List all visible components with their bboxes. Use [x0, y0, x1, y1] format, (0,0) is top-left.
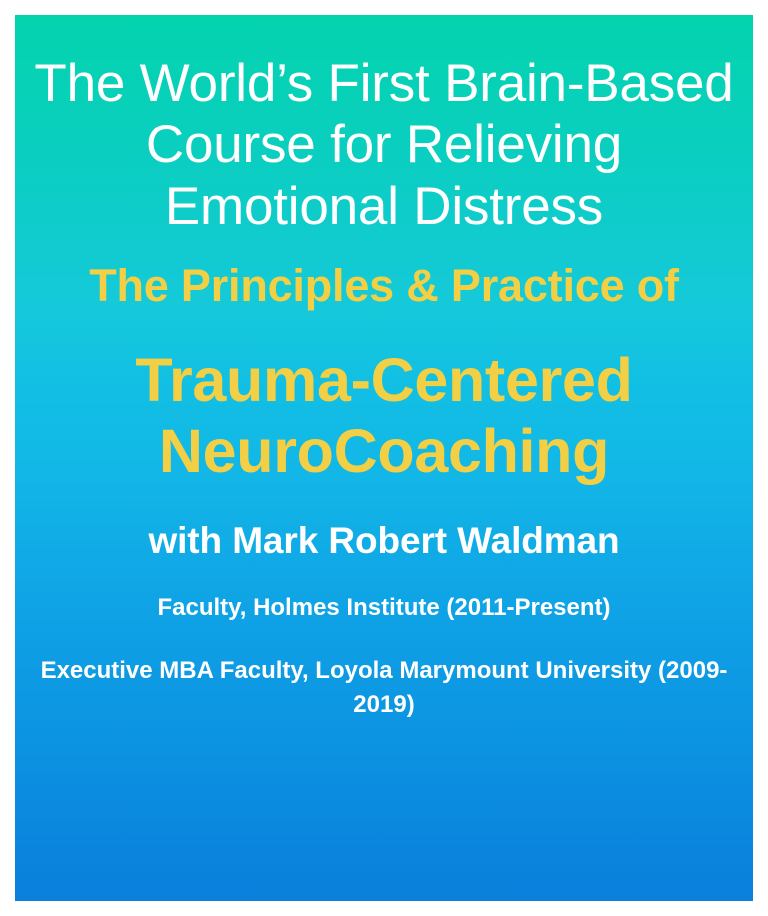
- credential-holmes-institute: Faculty, Holmes Institute (2011-Present): [15, 593, 753, 623]
- slide-frame: The World’s First Brain-Based Course for…: [0, 0, 768, 916]
- main-title: The World’s First Brain-Based Course for…: [15, 53, 753, 237]
- program-name: Trauma-Centered NeuroCoaching: [15, 345, 753, 488]
- credential-loyola-marymount: Executive MBA Faculty, Loyola Marymount …: [15, 654, 753, 724]
- presenter-line: with Mark Robert Waldman: [15, 519, 753, 563]
- slide-canvas: The World’s First Brain-Based Course for…: [15, 15, 753, 901]
- subtitle-principles: The Principles & Practice of: [15, 259, 753, 312]
